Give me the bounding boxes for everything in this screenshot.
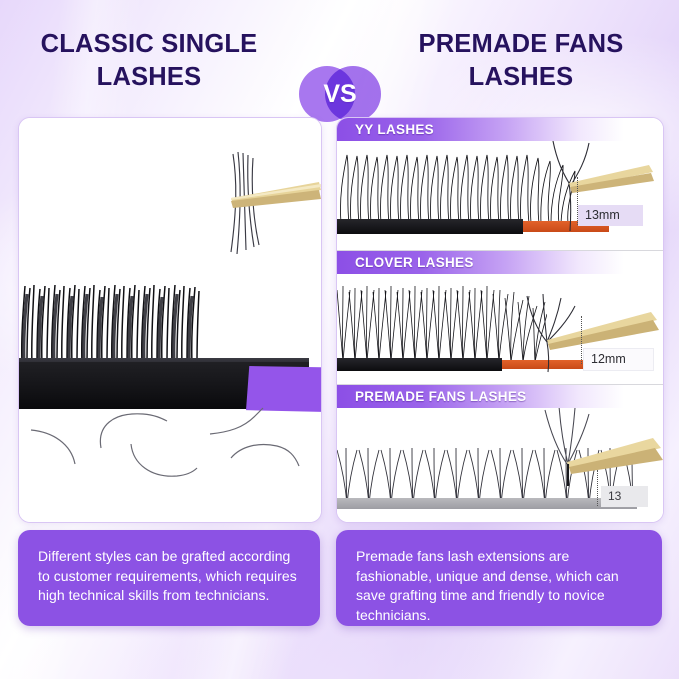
section-banner-clover: CLOVER LASHES — [337, 251, 663, 274]
yy-lash-band-black — [337, 219, 523, 234]
section-label-clover: CLOVER LASHES — [355, 255, 474, 270]
yy-lashes-photo: 13mm — [337, 141, 663, 250]
section-banner-premade: PREMADE FANS LASHES — [337, 385, 663, 408]
classic-lash-photo — [19, 118, 321, 522]
right-caption-text: Premade fans lash extensions are fashion… — [356, 547, 646, 625]
left-product-card — [18, 117, 322, 523]
clover-lashes-photo: 12mm — [337, 274, 663, 384]
section-clover-lashes: CLOVER LASHES — [337, 251, 663, 384]
section-premade-fans: PREMADE FANS LASHES — [337, 385, 663, 522]
clover-lash-band-black — [337, 358, 502, 371]
section-label-yy: YY LASHES — [355, 122, 434, 137]
section-label-premade: PREMADE FANS LASHES — [355, 389, 526, 404]
left-caption-box: Different styles can be grafted accordin… — [18, 530, 320, 626]
yy-length-label: 13mm — [578, 205, 643, 226]
product-comparison-infographic: CLASSIC SINGLE LASHES PREMADE FANS LASHE… — [0, 0, 679, 679]
header: CLASSIC SINGLE LASHES PREMADE FANS LASHE… — [0, 28, 679, 106]
right-panel-title: PREMADE FANS LASHES — [390, 28, 652, 94]
right-caption-box: Premade fans lash extensions are fashion… — [336, 530, 662, 626]
section-yy-lashes: YY LASHES — [337, 118, 663, 250]
classic-lash-strip-icon — [19, 282, 201, 364]
clover-length-label: 12mm — [583, 348, 654, 371]
tweezer-single-lashes-icon — [197, 146, 321, 264]
premade-length-label: 13 — [601, 486, 648, 507]
premade-fans-photo: 13 — [337, 408, 663, 522]
premade-measure-tick — [597, 470, 599, 506]
left-caption-text: Different styles can be grafted accordin… — [38, 547, 304, 606]
scattered-single-lashes-icon — [27, 402, 313, 492]
section-banner-yy: YY LASHES — [337, 118, 663, 141]
vs-badge: VS — [299, 66, 381, 122]
vs-label: VS — [299, 66, 381, 122]
right-product-card: YY LASHES — [336, 117, 664, 523]
left-panel-title: CLASSIC SINGLE LASHES — [18, 28, 280, 94]
